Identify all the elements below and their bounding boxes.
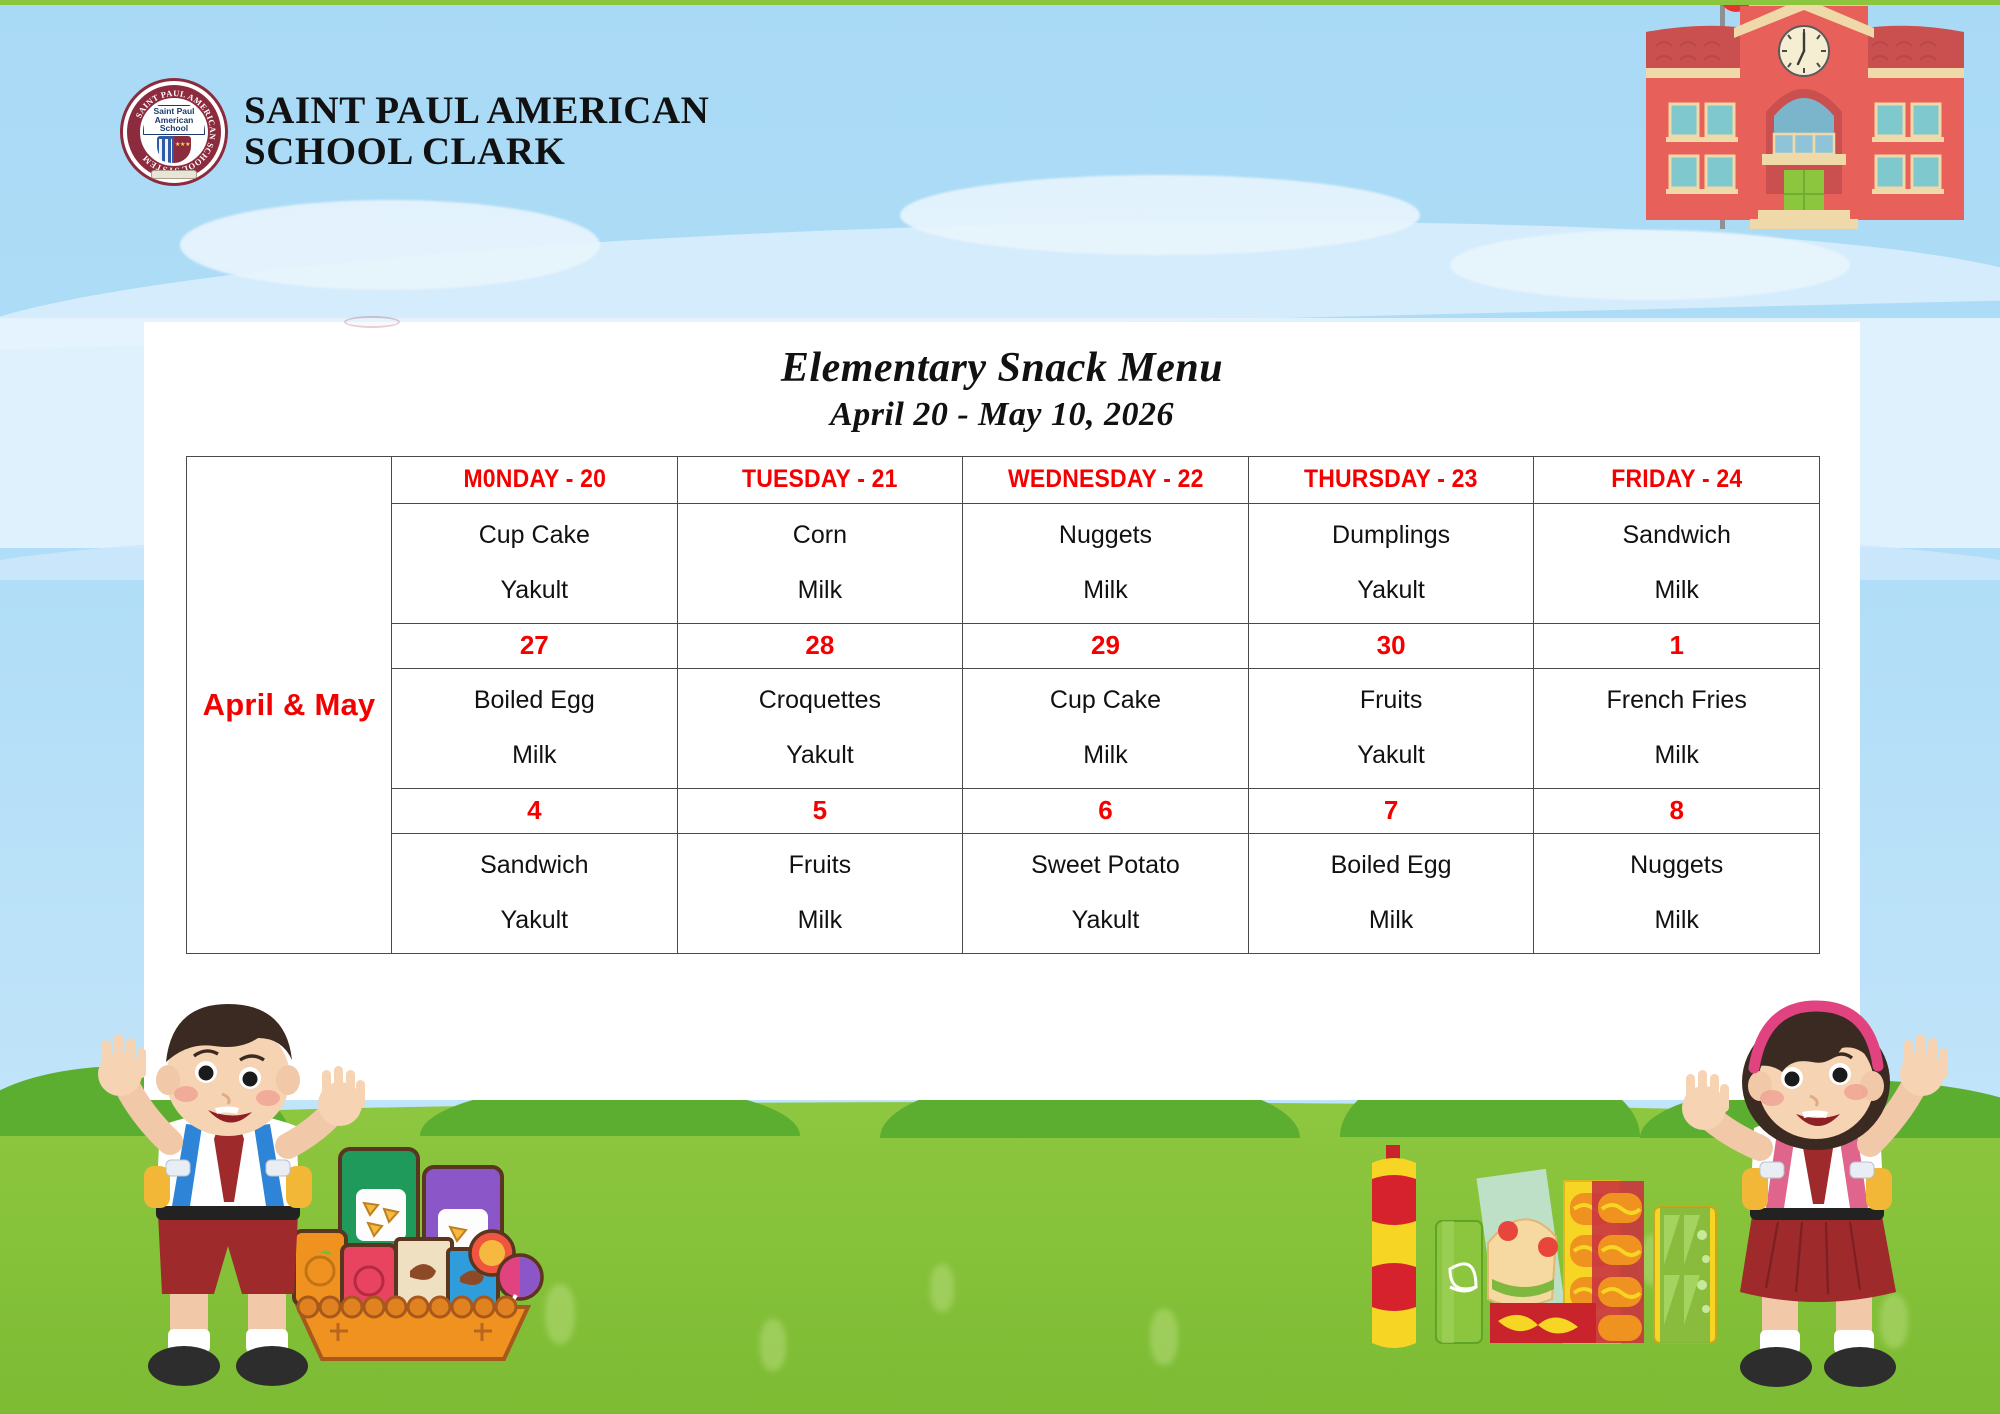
menu-cell: French Fries Milk — [1534, 669, 1820, 789]
page-subtitle: April 20 - May 10, 2026 — [144, 396, 1860, 434]
food-item: Corn — [682, 523, 959, 548]
date-cell: 29 — [963, 624, 1249, 669]
roof-right — [1864, 26, 1964, 72]
school-name: SAINT PAUL AMERICAN SCHOOL CLARK — [244, 91, 709, 173]
girl-buckle-left — [1760, 1162, 1784, 1178]
door-canopy — [1762, 154, 1846, 165]
day-header-monday: M0NDAY - 20 — [403, 457, 666, 504]
food-item: Boiled Egg — [396, 688, 673, 713]
boy-pupil-left — [199, 1066, 214, 1081]
school-building-illustration — [1640, 0, 1970, 229]
ledge-right — [1864, 68, 1964, 78]
drink-item: Yakult — [396, 908, 673, 933]
girl-skirt — [1740, 1216, 1896, 1302]
day-header-friday: FRIDAY - 24 — [1545, 457, 1808, 504]
table-row: Cup Cake Yakult Corn Milk Nuggets Milk D… — [187, 504, 1820, 624]
drink-item: Yakult — [396, 578, 673, 603]
boy-cheek-left — [174, 1086, 198, 1102]
menu-cell: Cup Cake Milk — [963, 669, 1249, 789]
cloud-blob — [180, 200, 600, 290]
drink-item: Milk — [1538, 578, 1815, 603]
food-item: Nuggets — [1538, 853, 1815, 878]
menu-cell: Boiled Egg Milk — [1248, 834, 1534, 954]
seal-name-line2: American School — [146, 116, 202, 133]
menu-cell: Boiled Egg Milk — [392, 669, 678, 789]
food-item: Sandwich — [396, 853, 673, 878]
drink-item: Milk — [1538, 743, 1815, 768]
waving-schoolboy-illustration — [82, 974, 372, 1394]
menu-cell: Nuggets Milk — [963, 504, 1249, 624]
page-title: Elementary Snack Menu — [144, 344, 1860, 392]
roof-left — [1646, 26, 1746, 72]
seal-shield-icon — [157, 136, 191, 164]
drink-item: Yakult — [1253, 743, 1530, 768]
drink-item: Milk — [1538, 908, 1815, 933]
grass-speck — [760, 1319, 786, 1371]
menu-cell: Fruits Yakult — [1248, 669, 1534, 789]
bottle-dot — [1401, 1188, 1415, 1202]
menu-cell: Sweet Potato Yakult — [963, 834, 1249, 954]
girl-shoe-left — [1740, 1347, 1812, 1387]
boy-shoe-right — [236, 1346, 308, 1386]
day-header-thursday: THURSDAY - 23 — [1260, 457, 1523, 504]
top-accent-strip — [0, 0, 2000, 5]
menu-cell: Sandwich Milk — [1534, 504, 1820, 624]
girl-cheek-left — [1760, 1090, 1784, 1106]
menu-cell: Sandwich Yakult — [392, 834, 678, 954]
drink-item: Yakult — [967, 908, 1244, 933]
girl-pupil-left — [1785, 1072, 1800, 1087]
menu-cell: Fruits Milk — [677, 834, 963, 954]
food-item: Nuggets — [967, 523, 1244, 548]
girl-buckle-right — [1850, 1162, 1874, 1178]
drink-item: Milk — [967, 578, 1244, 603]
sandwich-tomato-left — [1498, 1221, 1518, 1241]
boy-ear-right — [276, 1065, 300, 1095]
food-item: Cup Cake — [967, 688, 1244, 713]
menu-cell: Cup Cake Yakult — [392, 504, 678, 624]
school-seal-logo: SAINT PAUL AMERICAN SCHOOL SYSTEM Saint … — [120, 78, 228, 186]
bottle-logo-circle — [1376, 1225, 1412, 1261]
girl-cheek-right — [1844, 1084, 1868, 1100]
brand-header: SAINT PAUL AMERICAN SCHOOL SYSTEM Saint … — [120, 78, 709, 186]
drink-item: Yakult — [682, 743, 959, 768]
cloud-blob — [900, 175, 1420, 255]
boy-shoe-left — [148, 1346, 220, 1386]
date-cell: 4 — [392, 789, 678, 834]
drink-item: Milk — [682, 908, 959, 933]
panel-ghost-artifact — [344, 316, 400, 328]
lollipop-orange-center — [479, 1240, 505, 1266]
food-item: Sandwich — [1538, 523, 1815, 548]
step-lower — [1750, 219, 1858, 229]
girl-pupil-right — [1833, 1068, 1848, 1083]
food-item: Boiled Egg — [1253, 853, 1530, 878]
date-cell: 28 — [677, 624, 963, 669]
date-cell: 8 — [1534, 789, 1820, 834]
grass-speck — [930, 1264, 954, 1312]
food-item: Sweet Potato — [967, 853, 1244, 878]
date-cell: 6 — [963, 789, 1249, 834]
drink-item: Milk — [682, 578, 959, 603]
boy-strap-buckle-right — [266, 1160, 290, 1176]
arch-window-panes — [1774, 134, 1834, 154]
date-cell: 27 — [392, 624, 678, 669]
menu-cell: Dumplings Yakult — [1248, 504, 1534, 624]
food-item: Fruits — [682, 853, 959, 878]
food-item: French Fries — [1538, 688, 1815, 713]
table-date-row: 27 28 29 30 1 — [187, 624, 1820, 669]
date-cell: 5 — [677, 789, 963, 834]
month-label-cell: April & May — [187, 457, 392, 954]
boy-shorts — [158, 1214, 298, 1294]
drink-item: Yakult — [1253, 578, 1530, 603]
day-header-tuesday: TUESDAY - 21 — [689, 457, 952, 504]
sandwich-tomato-right — [1538, 1237, 1558, 1257]
seal-ribbon — [151, 170, 197, 179]
waving-schoolgirl-illustration — [1670, 974, 1960, 1394]
boy-pupil-right — [243, 1072, 258, 1087]
food-item: Dumplings — [1253, 523, 1530, 548]
school-name-line1: SAINT PAUL AMERICAN — [244, 91, 709, 132]
bottle-dot — [1373, 1188, 1387, 1202]
menu-panel: Elementary Snack Menu April 20 - May 10,… — [144, 322, 1860, 1100]
table-row: Sandwich Yakult Fruits Milk Sweet Potato… — [187, 834, 1820, 954]
cloud-blob — [1450, 230, 1850, 300]
drink-item: Milk — [1253, 908, 1530, 933]
menu-cell: Nuggets Milk — [1534, 834, 1820, 954]
bottle-label-lower — [1372, 1263, 1416, 1311]
menu-cell: Corn Milk — [677, 504, 963, 624]
table-row: Boiled Egg Milk Croquettes Yakult Cup Ca… — [187, 669, 1820, 789]
ledge-left — [1646, 68, 1746, 78]
menu-cell: Croquettes Yakult — [677, 669, 963, 789]
seal-name-plate: Saint Paul American School — [143, 105, 205, 135]
school-name-line2: SCHOOL CLARK — [244, 132, 709, 173]
day-header-wednesday: WEDNESDAY - 22 — [974, 457, 1237, 504]
date-cell: 1 — [1534, 624, 1820, 669]
seal-inner-emblem: Saint Paul American School — [143, 101, 205, 163]
table-header-row: April & May M0NDAY - 20 TUESDAY - 21 WED… — [187, 457, 1820, 504]
grass-speck — [545, 1284, 575, 1344]
drink-item: Milk — [967, 743, 1244, 768]
date-cell: 30 — [1248, 624, 1534, 669]
boy-cheek-right — [256, 1090, 280, 1106]
table-date-row: 4 5 6 7 8 — [187, 789, 1820, 834]
boy-strap-buckle-left — [166, 1160, 190, 1176]
date-cell: 7 — [1248, 789, 1534, 834]
grass-speck — [1150, 1309, 1178, 1365]
step-upper — [1758, 210, 1850, 219]
food-item: Cup Cake — [396, 523, 673, 548]
menu-table-container: April & May M0NDAY - 20 TUESDAY - 21 WED… — [186, 456, 1820, 954]
food-item: Croquettes — [682, 688, 959, 713]
snack-menu-table: April & May M0NDAY - 20 TUESDAY - 21 WED… — [186, 456, 1820, 954]
girl-shoe-right — [1824, 1347, 1896, 1387]
drink-item: Milk — [396, 743, 673, 768]
food-item: Fruits — [1253, 688, 1530, 713]
